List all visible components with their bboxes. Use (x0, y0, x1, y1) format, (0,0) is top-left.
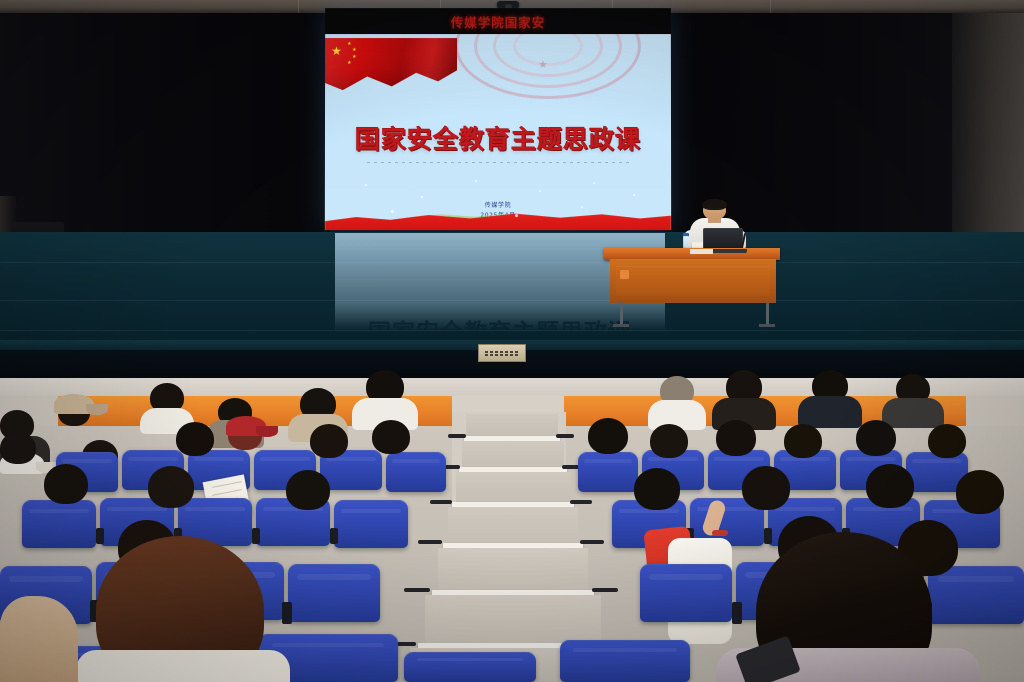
slide-subtitle-department: 传媒学院 (325, 200, 671, 209)
audience-head (0, 432, 36, 464)
audience-head (372, 420, 410, 454)
flag-star-small-icon: ★ (347, 42, 351, 47)
audience-arm (0, 596, 78, 682)
slide-content: ★ ★ ★ ★ ★ ★ 国家安全教育主题思政课 传媒学院 2025年4月 (325, 34, 671, 230)
auditorium-scene: 传媒学院国家安 ★ ★ ★ ★ ★ ★ 国家安全教育主题思政课 传媒学院 202… (0, 0, 1024, 682)
flag-star-large-icon: ★ (331, 45, 342, 57)
audience-body (798, 396, 862, 428)
audience-head (44, 464, 88, 504)
audience-body (76, 650, 290, 682)
slide-title: 国家安全教育主题思政课 (325, 120, 671, 156)
audience-head (634, 468, 680, 510)
flag-star-small-icon: ★ (347, 61, 351, 66)
audience-head (866, 464, 914, 508)
audience-head (286, 470, 330, 510)
audience-head (742, 466, 790, 510)
audience-head (928, 424, 966, 458)
laptop-icon (703, 228, 743, 250)
wrist-band (712, 530, 728, 536)
flag-star-small-icon: ★ (352, 48, 356, 53)
auditorium-seat[interactable] (640, 564, 732, 622)
audience-body (882, 398, 944, 428)
flag-shading (325, 38, 457, 100)
auditorium-seat[interactable] (334, 500, 408, 548)
ripple-watermark-icon (453, 34, 643, 102)
audience-head (784, 424, 822, 458)
audience-head (148, 466, 194, 508)
auditorium-seat[interactable] (560, 640, 690, 682)
audience-head (310, 424, 348, 458)
slide-divider (367, 162, 629, 163)
audience-head (588, 418, 628, 454)
flag-star-small-icon: ★ (352, 55, 356, 60)
auditorium-seat[interactable] (386, 452, 446, 492)
audience-head (650, 424, 688, 458)
audience-head (956, 470, 1004, 514)
desk-badge-icon (620, 270, 629, 279)
ceiling-seam (298, 0, 299, 14)
audience-head (856, 420, 896, 456)
slide-banner-text: 传媒学院国家安 (325, 12, 671, 31)
auditorium-seat[interactable] (578, 452, 638, 492)
cap-brim-icon (86, 404, 108, 415)
slide-banner: 传媒学院国家安 (325, 8, 671, 34)
auditorium-seat[interactable] (288, 564, 380, 622)
audience-head (176, 422, 214, 456)
nameplate (690, 249, 713, 254)
ceiling-seam (770, 0, 771, 14)
reflection-title: 国家安全教育主题思政课 (335, 313, 665, 331)
speaker-glasses-icon (705, 208, 724, 212)
auditorium-seat[interactable] (22, 500, 96, 548)
cap-brim-icon (256, 426, 278, 437)
audience-head (716, 420, 756, 456)
projection-screen: 传媒学院国家安 ★ ★ ★ ★ ★ ★ 国家安全教育主题思政课 传媒学院 202… (325, 8, 671, 230)
auditorium-seat[interactable] (928, 566, 1024, 624)
lecture-desk-panel (616, 266, 770, 296)
stage-notice-sign (478, 344, 526, 362)
auditorium-seat[interactable] (404, 652, 536, 682)
watermark-star-icon: ★ (538, 58, 548, 71)
